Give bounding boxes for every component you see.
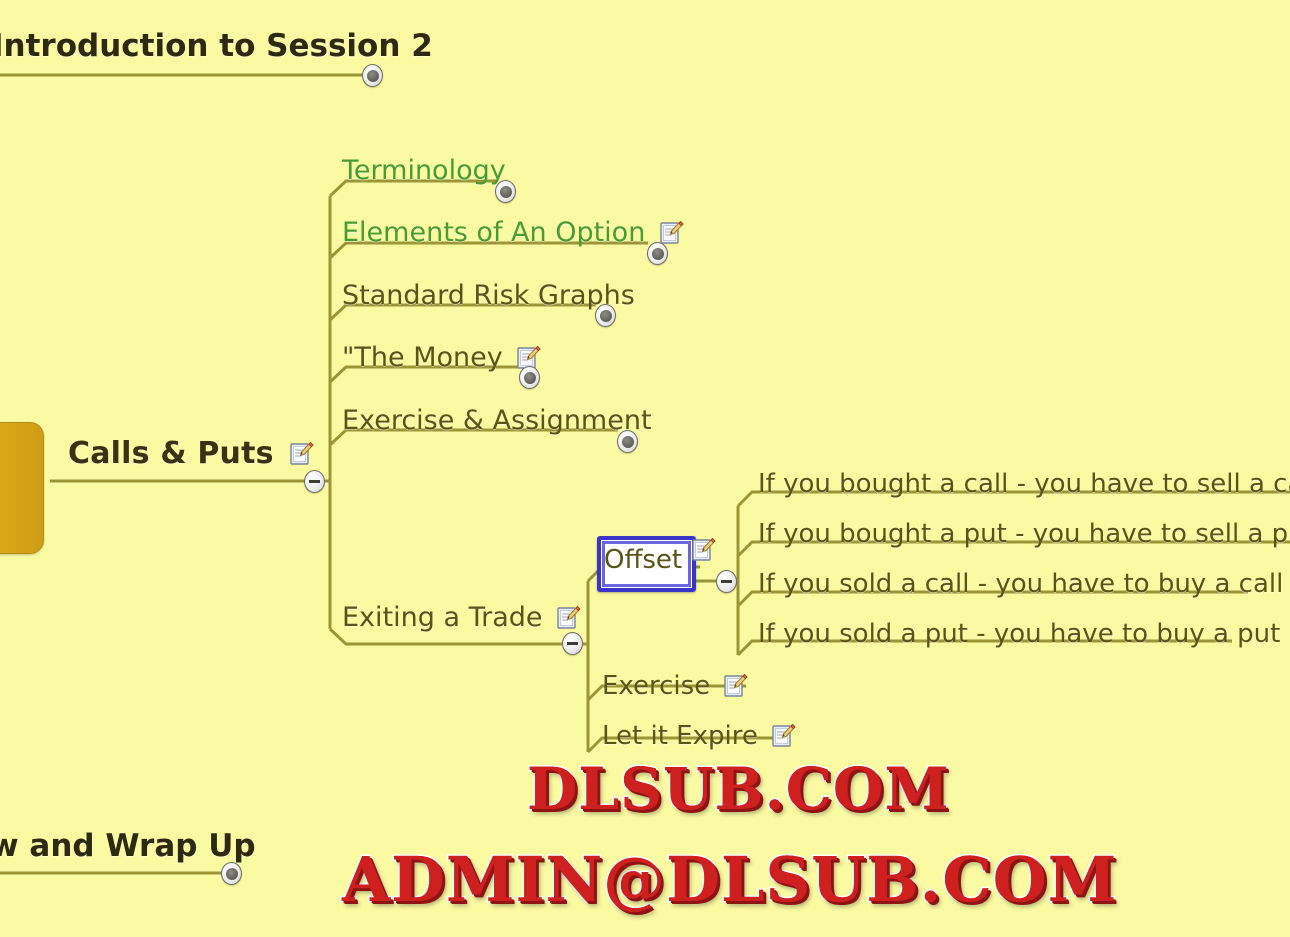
node-offset-rule-4[interactable]: If you sold a put - you have to buy a pu… xyxy=(758,620,1280,647)
expand-toggle-terminology[interactable] xyxy=(495,180,516,203)
node-label: Introduction to Session 2 xyxy=(0,31,433,62)
node-exercise[interactable]: Exercise xyxy=(602,672,748,699)
note-icon[interactable] xyxy=(557,605,581,630)
node-label: If you sold a put - you have to buy a pu… xyxy=(758,621,1280,647)
expand-toggle-the-money[interactable] xyxy=(519,366,540,389)
node-label: Standard Risk Graphs xyxy=(342,282,635,309)
note-icon[interactable] xyxy=(692,537,716,562)
node-offset-rule-3[interactable]: If you sold a call - you have to buy a c… xyxy=(758,570,1283,597)
collapse-toggle-calls-and-puts[interactable] xyxy=(304,470,325,493)
node-let-it-expire[interactable]: Let it Expire xyxy=(602,722,796,749)
mindmap-canvas[interactable]: Introduction to Session 2 Calls & Puts T… xyxy=(0,0,1290,937)
watermark-email-fill: ADMIN@DLSUB.COM xyxy=(342,843,1117,916)
expand-toggle-elements-of-an-option[interactable] xyxy=(647,242,668,265)
node-label: Terminology xyxy=(342,157,506,184)
expand-toggle-exercise-and-assignment[interactable] xyxy=(617,430,638,453)
note-icon[interactable] xyxy=(724,673,748,698)
node-review-and-wrap-up[interactable]: w and Wrap Up xyxy=(0,830,256,862)
node-calls-and-puts[interactable]: Calls & Puts xyxy=(68,438,314,469)
node-exercise-and-assignment[interactable]: Exercise & Assignment xyxy=(342,406,652,434)
node-label: Let it Expire xyxy=(602,723,758,749)
node-standard-risk-graphs[interactable]: Standard Risk Graphs xyxy=(342,281,635,309)
node-label: If you sold a call - you have to buy a c… xyxy=(758,571,1283,597)
node-label: Offset xyxy=(604,547,682,573)
node-label: Exiting a Trade xyxy=(342,604,543,631)
note-icon[interactable] xyxy=(290,441,314,466)
watermark-email: ADMIN@DLSUB.COM ADMIN@DLSUB.COM xyxy=(342,843,1117,916)
node-label: Exercise xyxy=(602,673,710,699)
node-label: Elements of An Option xyxy=(342,219,645,246)
expand-toggle-standard-risk-graphs[interactable] xyxy=(595,304,616,327)
node-label: w and Wrap Up xyxy=(0,831,256,862)
node-elements-of-an-option[interactable]: Elements of An Option xyxy=(342,218,684,246)
node-offset[interactable]: Offset xyxy=(604,546,682,573)
node-terminology[interactable]: Terminology xyxy=(342,156,506,184)
collapse-toggle-exiting-a-trade[interactable] xyxy=(562,632,583,655)
node-exiting-a-trade[interactable]: Exiting a Trade xyxy=(342,603,581,631)
expand-toggle-introduction[interactable] xyxy=(362,64,383,87)
root-node[interactable] xyxy=(0,422,44,554)
expand-toggle-wrap-up[interactable] xyxy=(221,862,242,885)
node-label: "The Money xyxy=(342,344,503,371)
node-offset-rule-1[interactable]: If you bought a call - you have to sell … xyxy=(758,470,1290,497)
node-label: If you bought a call - you have to sell … xyxy=(758,471,1290,497)
node-label: Calls & Puts xyxy=(68,439,274,469)
node-the-money[interactable]: "The Money xyxy=(342,343,541,371)
watermark-site-fill: DLSUB.COM xyxy=(527,755,950,823)
note-icon[interactable] xyxy=(660,220,684,245)
node-offset-rule-2[interactable]: If you bought a put - you have to sell a… xyxy=(758,520,1290,547)
collapse-toggle-offset[interactable] xyxy=(716,570,737,593)
node-label: If you bought a put - you have to sell a… xyxy=(758,521,1290,547)
node-introduction-to-session-2[interactable]: Introduction to Session 2 xyxy=(0,30,433,62)
note-icon[interactable] xyxy=(772,723,796,748)
watermark-site: DLSUB.COM DLSUB.COM xyxy=(527,755,950,823)
node-label: Exercise & Assignment xyxy=(342,407,652,434)
